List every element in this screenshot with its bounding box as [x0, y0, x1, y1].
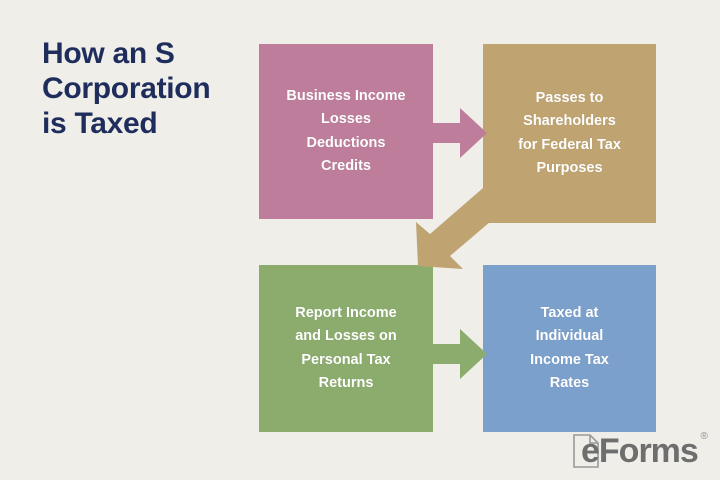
flow-arrow-down-left-icon	[404, 150, 534, 260]
flow-node-report-line-1: Report Income	[295, 302, 397, 326]
flow-node-taxed-line-4: Rates	[550, 372, 590, 396]
flow-node-passes-line-1: Passes to	[536, 87, 604, 111]
flow-node-business-income-line-3: Deductions	[307, 132, 386, 156]
flow-node-report-line-2: and Losses on	[295, 325, 397, 349]
infographic-canvas: How an S Corporation is Taxed Business I…	[0, 0, 720, 480]
page-title: How an S Corporation is Taxed	[42, 36, 252, 141]
flow-node-taxed-at-individual-rates: Taxed at Individual Income Tax Rates	[483, 265, 656, 432]
flow-node-passes-line-2: Shareholders	[523, 110, 616, 134]
flow-node-taxed-line-2: Individual	[536, 325, 604, 349]
registered-trademark-icon: ®	[700, 432, 706, 442]
flow-node-taxed-line-1: Taxed at	[541, 302, 599, 326]
page-title-line-2: Corporation	[42, 71, 252, 106]
flow-node-report-income: Report Income and Losses on Personal Tax…	[259, 265, 433, 432]
eforms-wordmark-text: eForms	[581, 432, 698, 470]
page-title-line-1: How an S	[42, 36, 252, 71]
eforms-wordmark: eForms ®	[581, 434, 698, 468]
page-title-line-3: is Taxed	[42, 106, 252, 141]
flow-arrow-right-green-icon	[430, 325, 488, 383]
flow-arrow-right-pink-icon	[430, 104, 488, 162]
flow-node-report-line-3: Personal Tax	[301, 349, 390, 373]
flow-node-passes-line-4: Purposes	[536, 157, 602, 181]
flow-node-business-income-line-2: Losses	[321, 108, 371, 132]
flow-node-taxed-line-3: Income Tax	[530, 349, 609, 373]
flow-node-business-income-line-4: Credits	[321, 155, 371, 179]
eforms-logo: eForms ®	[573, 424, 698, 468]
flow-node-report-line-4: Returns	[319, 372, 374, 396]
flow-node-business-income-line-1: Business Income	[286, 85, 405, 109]
